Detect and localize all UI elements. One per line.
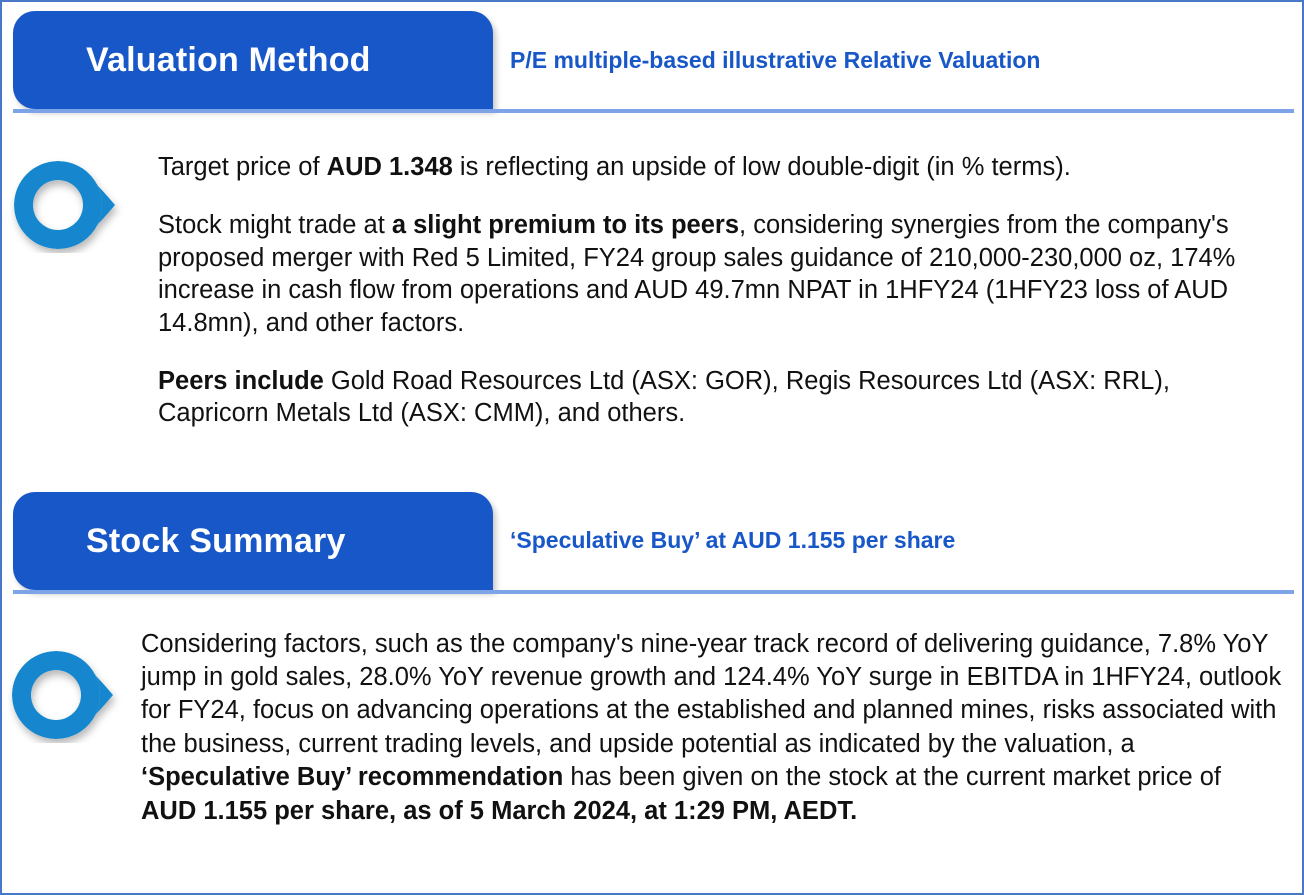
stock-summary-tab-label: Stock Summary <box>86 524 346 558</box>
summary-run4: AUD 1.155 per share, as of 5 March 2024,… <box>141 797 857 825</box>
valuation-paragraph-3: Peers include Gold Road Resources Ltd (A… <box>158 365 1274 430</box>
valuation-method-subtitle: P/E multiple-based illustrative Relative… <box>510 11 1040 109</box>
valuation-paragraph-2: Stock might trade at a slight premium to… <box>158 209 1274 339</box>
summary-run3: has been given on the stock at the curre… <box>563 763 1221 791</box>
stock-summary-body: Considering factors, such as the company… <box>2 592 1302 828</box>
summary-run2: ‘Speculative Buy’ recommendation <box>141 763 563 791</box>
valuation-method-header: Valuation Method P/E multiple-based illu… <box>2 11 1302 111</box>
stock-summary-subtitle: ‘Speculative Buy’ at AUD 1.155 per share <box>510 492 955 590</box>
valuation-method-tab: Valuation Method <box>13 11 493 109</box>
stock-summary-tab: Stock Summary <box>13 492 493 590</box>
para1-run1: Target price of <box>158 153 327 181</box>
para1-run3: is reflecting an upside of low double-di… <box>453 153 1071 181</box>
para3-run1: Peers include <box>158 367 324 395</box>
valuation-method-body: Target price of AUD 1.348 is reflecting … <box>2 111 1302 430</box>
valuation-paragraph-1: Target price of AUD 1.348 is reflecting … <box>158 151 1274 183</box>
valuation-method-tab-label: Valuation Method <box>86 43 371 77</box>
summary-run1: Considering factors, such as the company… <box>141 630 1281 758</box>
para2-run2: a slight premium to its peers <box>392 211 739 239</box>
stock-summary-header: Stock Summary ‘Speculative Buy’ at AUD 1… <box>2 492 1302 592</box>
para2-run1: Stock might trade at <box>158 211 392 239</box>
valuation-summary-card: Valuation Method P/E multiple-based illu… <box>0 0 1304 895</box>
stock-summary-paragraph: Considering factors, such as the company… <box>141 628 1282 828</box>
para1-run2: AUD 1.348 <box>327 153 453 181</box>
